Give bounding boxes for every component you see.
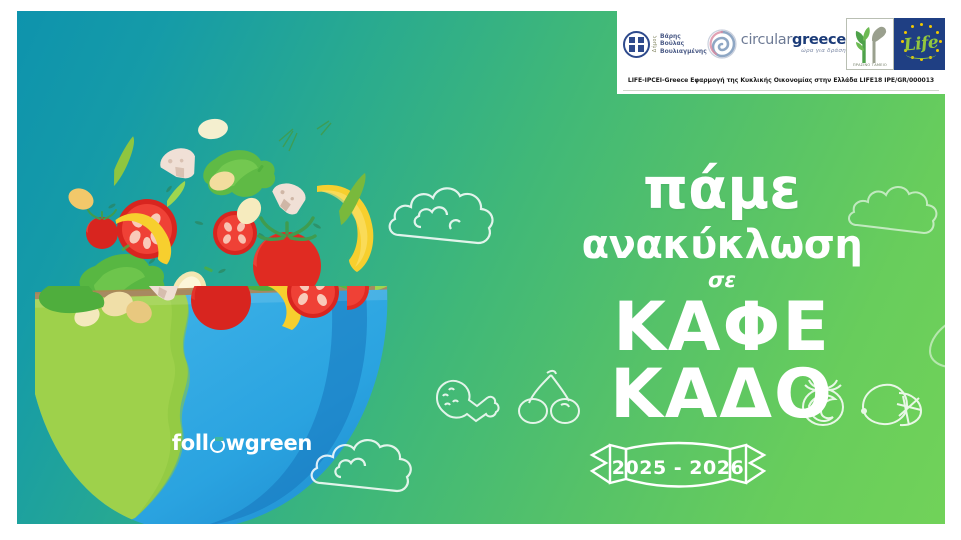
followgreen-wordmark: follwgreen	[172, 431, 312, 455]
drumstick-outline-icon	[429, 374, 501, 424]
circulargreece-wordmark: circulargreece ώρα για δράση	[741, 33, 846, 55]
tree-figure-icon	[850, 25, 890, 63]
season-ribbon: 2025 - 2026	[580, 435, 776, 497]
logo-bar-divider	[623, 90, 939, 92]
greenfund-label: ΠΡΑΣΙΝΟ ΤΑΜΕΙΟ	[853, 63, 887, 67]
followgreen-logo: follwgreen	[157, 428, 327, 458]
programme-caption: LIFE-IPCEI-Greece Εφαρμογή της Κυκλικής …	[623, 77, 939, 85]
circulargreece-logo: circulargreece ώρα για δράση	[707, 17, 846, 71]
headline-big-line-2: ΚΑΔΟ	[542, 362, 902, 429]
broccoli-outline-icon	[385, 179, 510, 257]
broccoli-outline-icon-2	[307, 431, 432, 503]
municipality-logo: Δήμος Βάρης Βούλας Βουλιαγμένης	[623, 17, 707, 71]
municipality-name-line-3: Βουλιαγμένης	[660, 49, 707, 55]
headline-line-2: ανακύκλωση	[542, 224, 902, 266]
greenfund-logo: ΠΡΑΣΙΝΟ ΤΑΜΕΙΟ	[846, 17, 894, 71]
followgreen-prefix: foll	[172, 431, 209, 455]
municipality-name-line-1: Βάρης	[660, 34, 707, 40]
municipality-name-lines: Βάρης Βούλας Βουλιαγμένης	[660, 34, 707, 55]
campaign-headline: πάμε ανακύκλωση σε ΚΑΦΕ ΚΑΔΟ	[542, 161, 902, 428]
life-underline-flourish	[906, 50, 936, 59]
recycle-loop-icon	[210, 438, 225, 453]
poster-root: follwgreen	[0, 0, 961, 540]
circulargreece-name: circulargreece	[741, 33, 846, 48]
circulargreece-name-light: circular	[741, 32, 792, 48]
season-label: 2025 - 2026	[580, 437, 776, 499]
municipality-name-line-2: Βούλας	[660, 41, 707, 47]
poster-canvas: follwgreen	[17, 11, 945, 524]
life-programme-logo: Life	[894, 17, 945, 71]
headline-line-1: πάμε	[542, 161, 902, 218]
spiral-swirl-icon	[707, 29, 737, 59]
circulargreece-tagline: ώρα για δράση	[741, 49, 846, 55]
municipality-seal-icon	[623, 31, 650, 58]
circulargreece-name-bold: greece	[792, 32, 846, 48]
partner-logo-bar: Δήμος Βάρης Βούλας Βουλιαγμένης	[617, 11, 945, 94]
followgreen-suffix: wgreen	[226, 431, 312, 455]
onion-outline-icon	[922, 311, 945, 371]
municipality-wordmark: Δήμος Βάρης Βούλας Βουλιαγμένης	[653, 34, 707, 55]
municipality-vertical-word: Δήμος	[653, 35, 658, 52]
headline-big-line-1: ΚΑΦΕ	[542, 295, 902, 362]
greek-cross-icon	[629, 37, 644, 52]
logo-row: Δήμος Βάρης Βούλας Βουλιαγμένης	[623, 16, 939, 72]
